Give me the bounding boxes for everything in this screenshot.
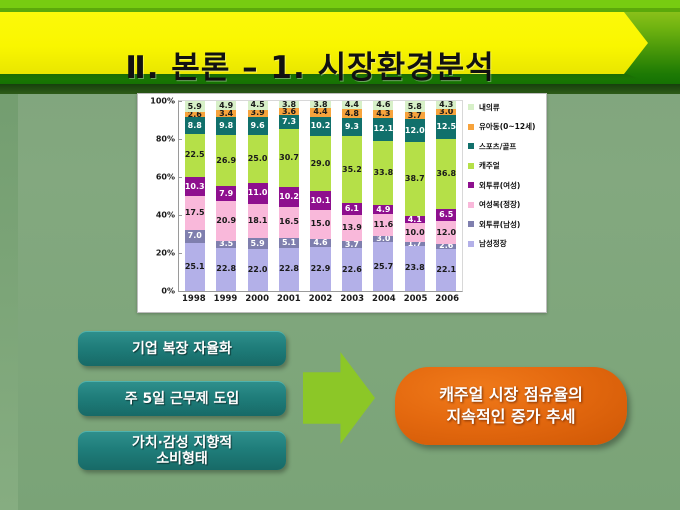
legend-item: 캐주얼 (468, 161, 544, 171)
legend-swatch-icon (468, 241, 474, 247)
legend-label: 캐주얼 (479, 160, 500, 171)
x-axis-tick-label: 1999 (210, 294, 242, 304)
x-axis-tick-label: 2000 (241, 294, 273, 304)
factor-box-2[interactable]: 주 5일 근무제 도입 (78, 381, 286, 416)
factor-box-1[interactable]: 기업 복장 자율화 (78, 331, 286, 366)
bar-segment: 12.1 (373, 118, 393, 141)
bar-segment: 5.8 (405, 101, 425, 112)
bar-segment: 22.6 (342, 248, 362, 291)
bar-segment: 3.9 (248, 110, 268, 117)
slide-canvas: Ⅱ. 본론 – 1. 시장환경분석 0%20%40%60%80%100% 5.9… (0, 0, 680, 510)
legend-label: 내의류 (479, 102, 500, 113)
chart-bar-column: 3.84.410.229.010.115.04.622.9 (305, 101, 336, 291)
bar-segment: 7.0 (185, 230, 205, 243)
x-axis-tick-label: 2005 (400, 294, 432, 304)
bar-segment: 10.2 (279, 187, 299, 206)
bar-segment: 4.5 (248, 101, 268, 110)
y-axis-tick-label: 80% (156, 135, 175, 144)
bar-segment: 38.7 (405, 142, 425, 216)
y-axis-tick-label: 20% (156, 249, 175, 258)
bar-segment: 10.0 (405, 223, 425, 242)
legend-label: 남성정장 (479, 238, 507, 249)
legend-swatch-icon (468, 163, 474, 169)
bar-segment: 12.0 (436, 221, 456, 244)
bar-segment: 6.1 (342, 203, 362, 215)
bar-segment: 25.0 (248, 135, 268, 183)
bar-segment: 10.1 (310, 191, 330, 210)
stacked-bar: 5.83.712.038.74.110.01.723.8 (405, 101, 425, 291)
chart-bar-column: 3.83.67.330.710.216.55.122.8 (273, 101, 304, 291)
bar-segment: 11.6 (373, 214, 393, 236)
bar-segment: 17.5 (185, 196, 205, 229)
bar-segment: 3.6 (279, 108, 299, 115)
x-axis-tick-label: 1998 (178, 294, 210, 304)
x-axis-tick-label: 2003 (336, 294, 368, 304)
bar-segment: 23.8 (405, 246, 425, 291)
legend-item: 외투류(남성) (468, 219, 544, 229)
stacked-bar: 4.93.49.826.97.920.93.522.8 (216, 101, 236, 291)
legend-label: 유아동(0~12세) (479, 121, 535, 132)
chart-bar-column: 4.53.99.625.011.018.15.922.0 (242, 101, 273, 291)
x-axis-tick-label: 2002 (305, 294, 337, 304)
x-axis-tick-label: 2004 (368, 294, 400, 304)
bar-segment: 11.0 (248, 183, 268, 204)
legend-item: 스포츠/골프 (468, 141, 544, 151)
bar-segment: 4.6 (310, 239, 330, 248)
bar-segment: 22.8 (279, 248, 299, 291)
bar-segment: 7.3 (279, 115, 299, 129)
chart-bar-column: 4.33.012.536.86.512.02.622.1 (431, 101, 462, 291)
bar-segment: 36.8 (436, 139, 456, 209)
bar-segment: 12.0 (405, 119, 425, 142)
stacked-bar: 5.92.68.822.510.317.57.025.1 (185, 101, 205, 291)
chart-bars: 5.92.68.822.510.317.57.025.14.93.49.826.… (179, 101, 462, 291)
bar-segment: 4.3 (436, 101, 456, 109)
bar-segment: 15.0 (310, 210, 330, 239)
stacked-bar: 4.64.312.133.84.911.63.025.7 (373, 101, 393, 291)
bar-segment: 9.6 (248, 117, 268, 135)
bar-segment: 22.1 (436, 249, 456, 291)
bar-segment: 5.9 (248, 238, 268, 249)
chart-bar-column: 4.44.89.335.26.113.93.722.6 (336, 101, 367, 291)
bar-segment: 13.9 (342, 215, 362, 241)
bar-segment: 25.7 (373, 242, 393, 291)
bar-segment: 35.2 (342, 136, 362, 203)
chart-bar-column: 4.93.49.826.97.920.93.522.8 (210, 101, 241, 291)
factor-box-3[interactable]: 가치·감성 지향적소비형태 (78, 431, 286, 470)
legend-swatch-icon (468, 104, 474, 110)
right-arrow-icon (303, 352, 375, 444)
bar-segment: 16.5 (279, 207, 299, 238)
bar-segment: 18.1 (248, 204, 268, 238)
chart-bar-column: 5.83.712.038.74.110.01.723.8 (399, 101, 430, 291)
conclusion-callout[interactable]: 캐주얼 시장 점유율의지속적인 증가 추세 (395, 367, 627, 445)
x-axis-tick-label: 2006 (431, 294, 463, 304)
y-axis-tick-label: 40% (156, 211, 175, 220)
bar-segment: 4.8 (342, 109, 362, 118)
bar-segment: 9.8 (216, 117, 236, 136)
bar-segment: 4.9 (373, 205, 393, 214)
legend-item: 내의류 (468, 102, 544, 112)
bar-segment: 4.3 (373, 110, 393, 118)
stacked-bar: 4.53.99.625.011.018.15.922.0 (248, 101, 268, 291)
legend-label: 스포츠/골프 (479, 141, 516, 152)
legend-item: 유아동(0~12세) (468, 122, 544, 132)
bar-segment: 6.5 (436, 209, 456, 221)
bar-segment: 9.3 (342, 118, 362, 136)
bar-segment: 10.3 (185, 177, 205, 197)
bar-segment: 4.1 (405, 216, 425, 224)
legend-swatch-icon (468, 143, 474, 149)
legend-swatch-icon (468, 202, 474, 208)
bar-segment: 22.5 (185, 134, 205, 177)
stacked-bar: 3.83.67.330.710.216.55.122.8 (279, 101, 299, 291)
chart-panel: 0%20%40%60%80%100% 5.92.68.822.510.317.5… (137, 93, 547, 313)
bar-segment: 33.8 (373, 141, 393, 205)
bar-segment: 22.8 (216, 248, 236, 291)
bar-segment: 4.4 (310, 108, 330, 116)
stacked-bar: 4.44.89.335.26.113.93.722.6 (342, 101, 362, 291)
chart-bar-column: 5.92.68.822.510.317.57.025.1 (179, 101, 210, 291)
chart-plot-area: 5.92.68.822.510.317.57.025.14.93.49.826.… (178, 100, 463, 292)
legend-item: 외투류(여성) (468, 180, 544, 190)
header-top-stripe-accent (0, 8, 680, 12)
legend-swatch-icon (468, 182, 474, 188)
bar-segment: 22.0 (248, 249, 268, 291)
bar-segment: 22.9 (310, 247, 330, 291)
y-axis-tick-label: 60% (156, 173, 175, 182)
bar-segment: 3.8 (279, 101, 299, 108)
chart-x-axis: 199819992000200120022003200420052006 (178, 294, 463, 304)
bar-segment: 5.1 (279, 238, 299, 248)
bar-segment: 3.7 (342, 241, 362, 248)
legend-swatch-icon (468, 124, 474, 130)
x-axis-tick-label: 2001 (273, 294, 305, 304)
legend-item: 남성정장 (468, 239, 544, 249)
legend-label: 여성복(정장) (479, 199, 520, 210)
bar-segment: 5.9 (185, 101, 205, 112)
bar-segment: 3.7 (405, 112, 425, 119)
bar-segment: 12.5 (436, 115, 456, 139)
bar-segment: 4.9 (216, 101, 236, 110)
bar-segment: 3.8 (310, 101, 330, 108)
chart-y-axis: 0%20%40%60%80%100% (138, 94, 178, 292)
legend-swatch-icon (468, 221, 474, 227)
bar-segment: 7.9 (216, 186, 236, 201)
y-axis-tick-label: 0% (161, 287, 175, 296)
legend-item: 여성복(정장) (468, 200, 544, 210)
chart-legend: 내의류유아동(0~12세)스포츠/골프캐주얼외투류(여성)여성복(정장)외투류(… (468, 102, 544, 258)
bar-segment: 4.6 (373, 101, 393, 110)
bar-segment: 29.0 (310, 136, 330, 191)
stacked-bar: 4.33.012.536.86.512.02.622.1 (436, 101, 456, 291)
page-title: Ⅱ. 본론 – 1. 시장환경분석 (0, 36, 620, 92)
bar-segment: 4.4 (342, 101, 362, 109)
bar-segment: 30.7 (279, 129, 299, 187)
chart-bar-column: 4.64.312.133.84.911.63.025.7 (368, 101, 399, 291)
stacked-bar: 3.84.410.229.010.115.04.622.9 (310, 101, 330, 291)
bar-segment: 3.5 (216, 241, 236, 248)
bar-segment: 20.9 (216, 201, 236, 241)
y-axis-tick-label: 100% (150, 97, 175, 106)
bar-segment: 26.9 (216, 135, 236, 186)
legend-label: 외투류(남성) (479, 219, 520, 230)
legend-label: 외투류(여성) (479, 180, 520, 191)
bar-segment: 25.1 (185, 243, 205, 291)
bar-segment: 10.2 (310, 117, 330, 136)
bar-segment: 8.8 (185, 117, 205, 134)
